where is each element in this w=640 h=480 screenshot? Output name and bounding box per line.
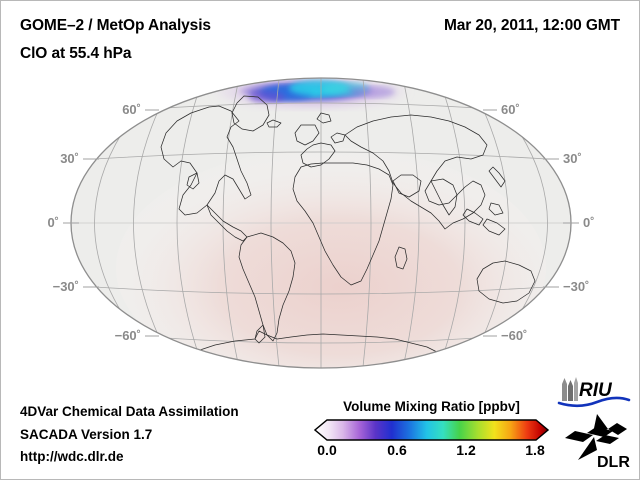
lat-label-60s-right: −60˚ [501,328,527,343]
lat-label-60s-left: −60˚ [115,328,141,343]
lat-label-30s-right: −30˚ [563,279,589,294]
footer-line-url: http://wdc.dlr.de [20,446,239,469]
dlr-logo: DLR [563,413,633,469]
colorbar-tick-3: 1.8 [525,442,544,458]
figure-canvas: GOME–2 / MetOp Analysis ClO at 55.4 hPa … [0,0,640,480]
colorbar-title: Volume Mixing Ratio [ppbv] [314,399,549,414]
lat-label-30n-right: 30˚ [563,151,582,166]
colorbar-tick-labels: 0.0 0.6 1.2 1.8 [314,442,549,460]
colorbar: Volume Mixing Ratio [ppbv] [314,399,549,460]
footer-line-version: SACADA Version 1.7 [20,424,239,447]
colorbar-tick-2: 1.2 [456,442,475,458]
lat-label-0-right: 0˚ [583,215,595,230]
lat-label-0-left: 0˚ [47,215,59,230]
map-svg: 60˚ 60˚ 30˚ 30˚ 0˚ 0˚ −30˚ −30˚ −60˚ −60… [1,63,640,383]
lat-label-30n-left: 30˚ [60,151,79,166]
colorbar-body [315,420,548,440]
dlr-wordmark: DLR [597,454,630,469]
lat-label-30s-left: −30˚ [53,279,79,294]
timestamp-label: Mar 20, 2011, 12:00 GMT [444,17,620,35]
world-map: 60˚ 60˚ 30˚ 30˚ 0˚ 0˚ −30˚ −30˚ −60˚ −60… [1,63,640,383]
background-field-tint [116,148,546,383]
footer-text-block: 4DVar Chemical Data Assimilation SACADA … [20,401,239,469]
colorbar-gradient [314,419,549,441]
colorbar-tick-1: 0.6 [387,442,406,458]
lat-label-60n-right: 60˚ [501,102,520,117]
page-subtitle: ClO at 55.4 hPa [20,45,131,63]
riu-logo: RIU [557,375,631,409]
page-title: GOME–2 / MetOp Analysis [20,17,211,35]
footer-line-method: 4DVar Chemical Data Assimilation [20,401,239,424]
riu-tower-icon [562,377,578,401]
colorbar-tick-0: 0.0 [317,442,336,458]
lat-label-60n-left: 60˚ [122,102,141,117]
